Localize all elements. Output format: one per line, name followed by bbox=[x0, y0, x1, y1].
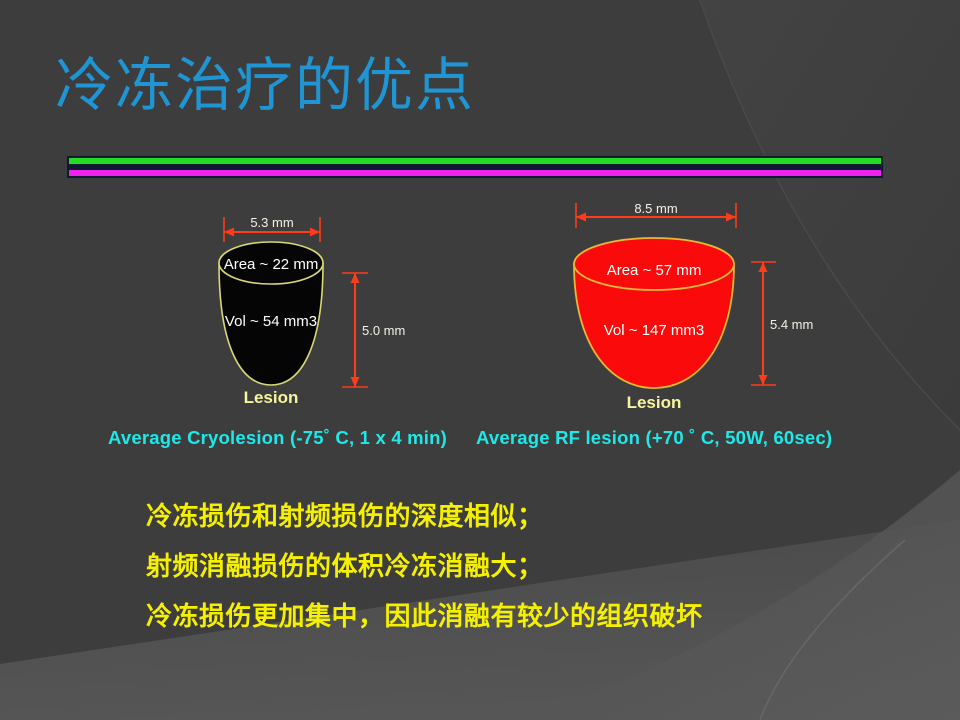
left-height-label: 5.0 mm bbox=[362, 323, 405, 338]
bullet-item: 冷冻损伤和射频损伤的深度相似； bbox=[146, 492, 906, 542]
left-width-dimension: 5.3 mm bbox=[224, 215, 320, 242]
caption-cryolesion: Average Cryolesion (-75˚ C, 1 x 4 min) bbox=[108, 427, 447, 449]
right-lesion-name: Lesion bbox=[627, 393, 682, 412]
right-width-dimension: 8.5 mm bbox=[576, 201, 736, 228]
left-area-label: Area ~ 22 mm bbox=[224, 256, 319, 273]
page-title: 冷冻治疗的优点 bbox=[55, 52, 475, 118]
right-lesion-group: 8.5 mm Area ~ 57 mm Vol ~ 147 mm3 Lesion… bbox=[574, 201, 813, 412]
title-rule-green bbox=[69, 158, 881, 164]
bullet-list: 冷冻损伤和射频损伤的深度相似； 射频消融损伤的体积冷冻消融大； 冷冻损伤更加集中… bbox=[146, 492, 906, 642]
left-lesion-group: 5.3 mm Area ~ 22 mm Vol ~ 54 mm3 Lesion … bbox=[219, 215, 405, 407]
bullet-item: 冷冻损伤更加集中，因此消融有较少的组织破坏 bbox=[146, 592, 906, 642]
left-height-dimension: 5.0 mm bbox=[342, 273, 405, 387]
slide-canvas: 冷冻治疗的优点 5.3 mm Area ~ bbox=[0, 0, 960, 720]
lesion-figure-svg: 5.3 mm Area ~ 22 mm Vol ~ 54 mm3 Lesion … bbox=[0, 195, 960, 425]
right-area-label: Area ~ 57 mm bbox=[607, 262, 702, 279]
lesion-comparison-figure: 5.3 mm Area ~ 22 mm Vol ~ 54 mm3 Lesion … bbox=[0, 195, 960, 425]
bullet-item: 射频消融损伤的体积冷冻消融大； bbox=[146, 542, 906, 592]
left-lesion-name: Lesion bbox=[244, 388, 299, 407]
left-volume-label: Vol ~ 54 mm3 bbox=[225, 313, 317, 330]
title-rule-magenta bbox=[69, 170, 881, 176]
right-height-label: 5.4 mm bbox=[770, 317, 813, 332]
right-volume-label: Vol ~ 147 mm3 bbox=[604, 322, 704, 339]
caption-rf-lesion: Average RF lesion (+70 ˚ C, 50W, 60sec) bbox=[476, 427, 832, 449]
left-width-label: 5.3 mm bbox=[250, 215, 293, 230]
right-height-dimension: 5.4 mm bbox=[751, 262, 813, 385]
right-width-label: 8.5 mm bbox=[634, 201, 677, 216]
